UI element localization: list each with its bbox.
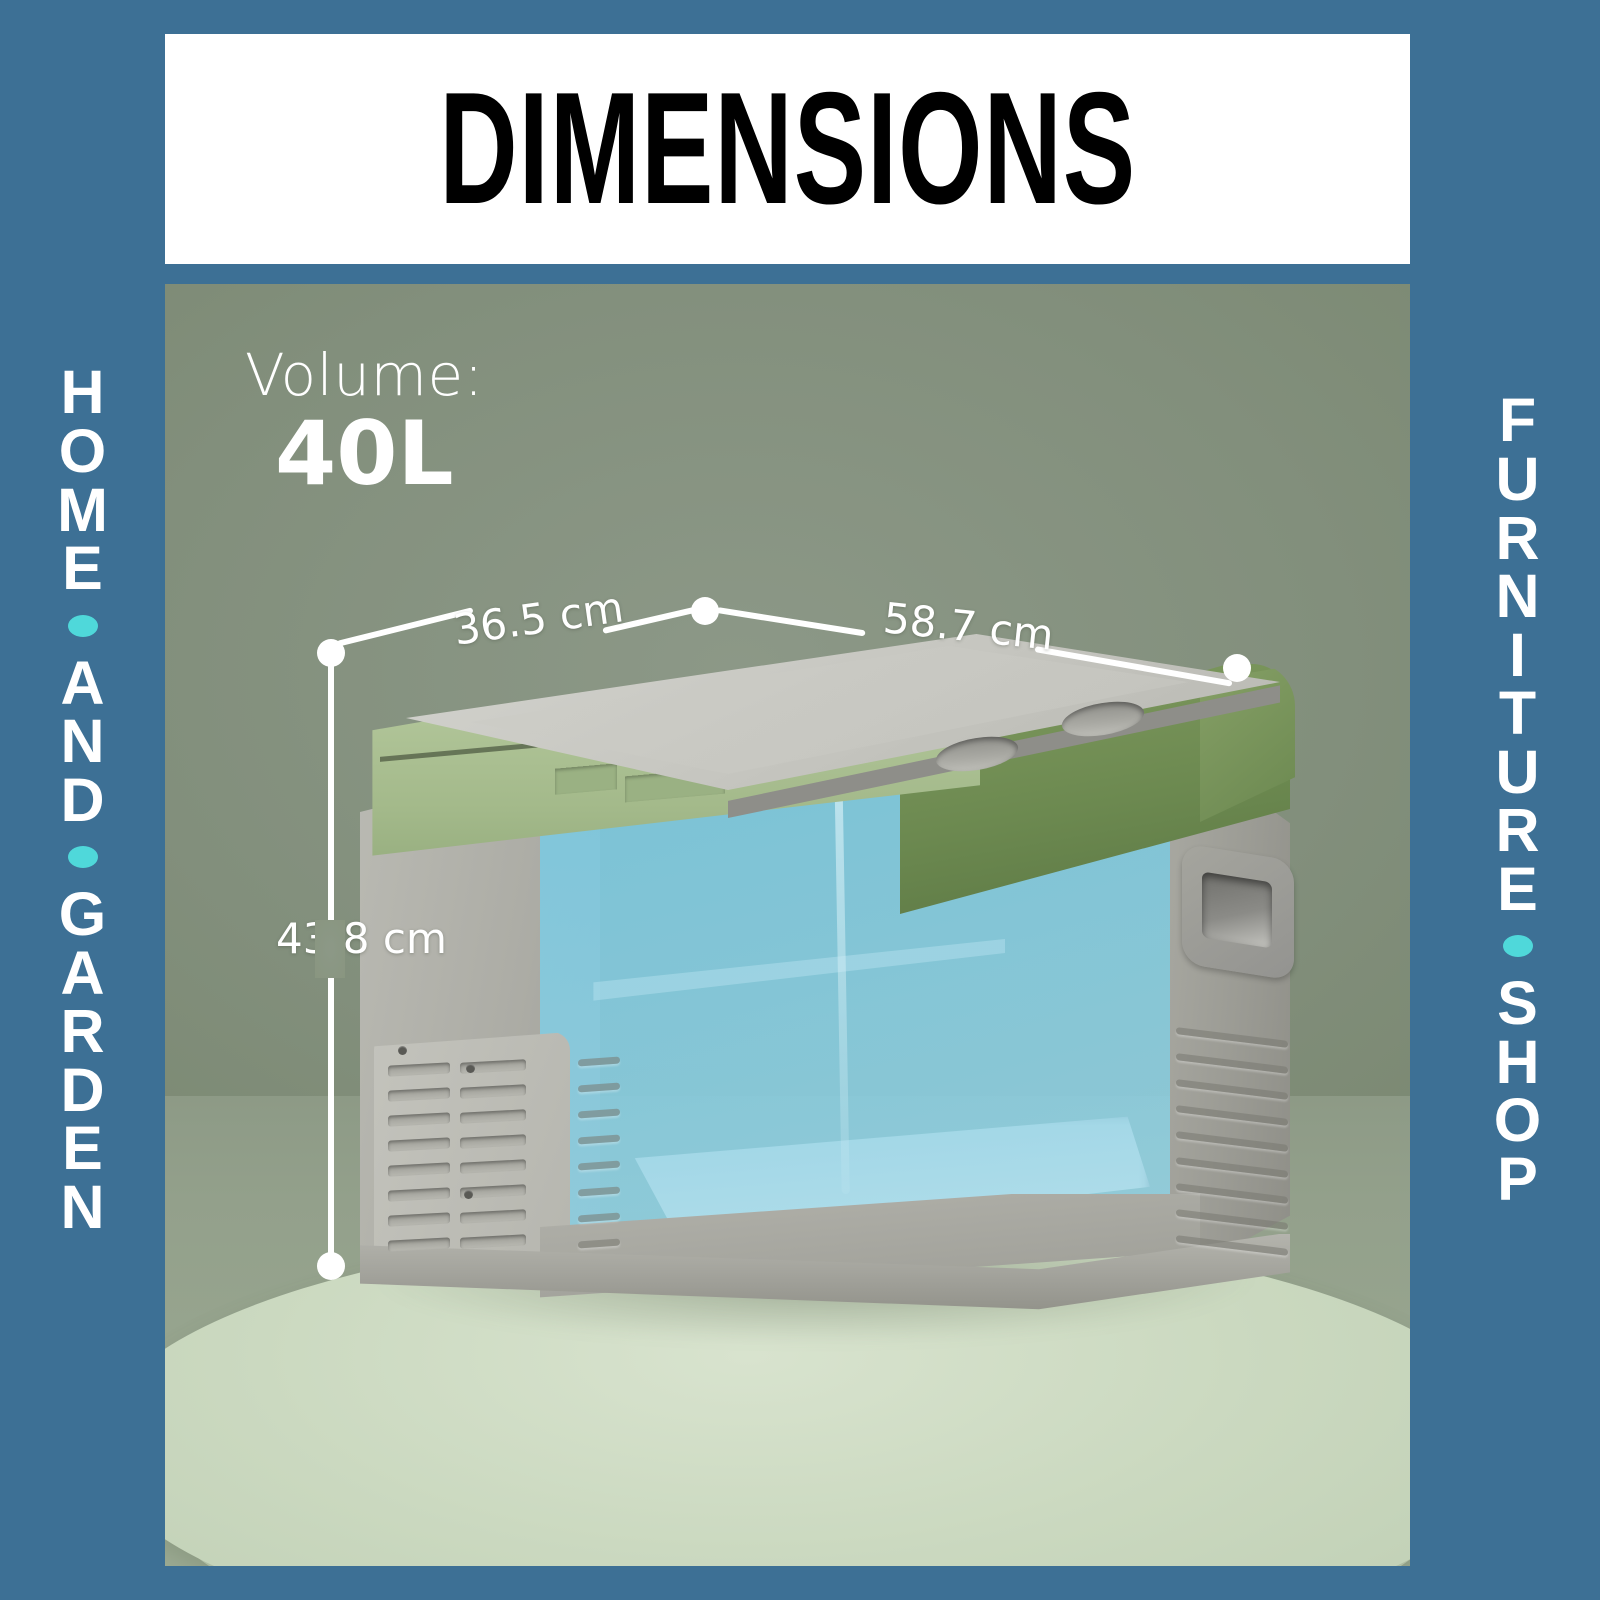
right-banner-letter-8: E bbox=[1435, 860, 1600, 919]
infographic-root: HOMEANDGARDEN FURNITURESHOP DIMENSIONS V… bbox=[0, 0, 1600, 1600]
left-banner-dot-8 bbox=[68, 846, 98, 868]
right-banner-letter-7: R bbox=[1435, 801, 1600, 860]
right-banner-letter-13: P bbox=[1435, 1150, 1600, 1209]
right-banner-letter-10: S bbox=[1435, 974, 1600, 1033]
left-banner-letter-2: M bbox=[0, 481, 165, 540]
left-banner-letter-12: D bbox=[0, 1061, 165, 1120]
volume-value: 40L bbox=[275, 408, 484, 500]
vent-screw-1 bbox=[466, 1064, 475, 1073]
left-banner-letter-3: E bbox=[0, 539, 165, 598]
vent-screw-2 bbox=[464, 1190, 473, 1199]
title-banner: DIMENSIONS bbox=[165, 34, 1410, 264]
right-banner-letter-5: T bbox=[1435, 684, 1600, 743]
product-cooler bbox=[340, 634, 1280, 1334]
vent-screw-0 bbox=[398, 1046, 407, 1055]
cooler-side-handle-recess bbox=[1202, 871, 1272, 948]
right-banner-letter-3: N bbox=[1435, 567, 1600, 626]
dim-label-height: 43.8 cm bbox=[270, 914, 453, 963]
right-banner-dot-9 bbox=[1503, 935, 1533, 957]
left-banner-letter-7: D bbox=[0, 771, 165, 830]
right-banner-letter-4: I bbox=[1435, 626, 1600, 685]
left-banner-letter-10: A bbox=[0, 944, 165, 1003]
dim-dot-height-bottom bbox=[317, 1252, 345, 1280]
left-banner-letter-11: R bbox=[0, 1002, 165, 1061]
cooler-lid-hinge-left bbox=[555, 763, 617, 794]
right-banner-letter-11: H bbox=[1435, 1033, 1600, 1092]
dim-dot-top-center bbox=[691, 597, 719, 625]
left-banner-letter-0: H bbox=[0, 363, 165, 422]
right-vertical-banner: FURNITURESHOP bbox=[1435, 0, 1600, 1600]
volume-block: Volume: 40L bbox=[245, 346, 484, 500]
left-banner-letter-14: N bbox=[0, 1178, 165, 1237]
dim-label-height-mask bbox=[315, 920, 345, 978]
page-title: DIMENSIONS bbox=[439, 57, 1136, 241]
right-banner-letter-0: F bbox=[1435, 391, 1600, 450]
product-scene: Volume: 40L bbox=[165, 284, 1410, 1566]
left-vertical-banner: HOMEANDGARDEN bbox=[0, 0, 165, 1600]
left-banner-letter-13: E bbox=[0, 1119, 165, 1178]
right-banner-letter-2: R bbox=[1435, 509, 1600, 568]
left-banner-letter-6: N bbox=[0, 712, 165, 771]
right-banner-letter-1: U bbox=[1435, 450, 1600, 509]
dim-line-width-a bbox=[717, 607, 866, 636]
right-banner-letter-12: O bbox=[1435, 1091, 1600, 1150]
left-banner-letter-5: A bbox=[0, 654, 165, 713]
left-banner-dot-4 bbox=[68, 615, 98, 637]
left-banner-letter-9: G bbox=[0, 885, 165, 944]
right-banner-letter-6: U bbox=[1435, 743, 1600, 802]
left-banner-letter-1: O bbox=[0, 422, 165, 481]
dim-dot-width-right bbox=[1223, 654, 1251, 682]
volume-label: Volume: bbox=[245, 346, 484, 404]
